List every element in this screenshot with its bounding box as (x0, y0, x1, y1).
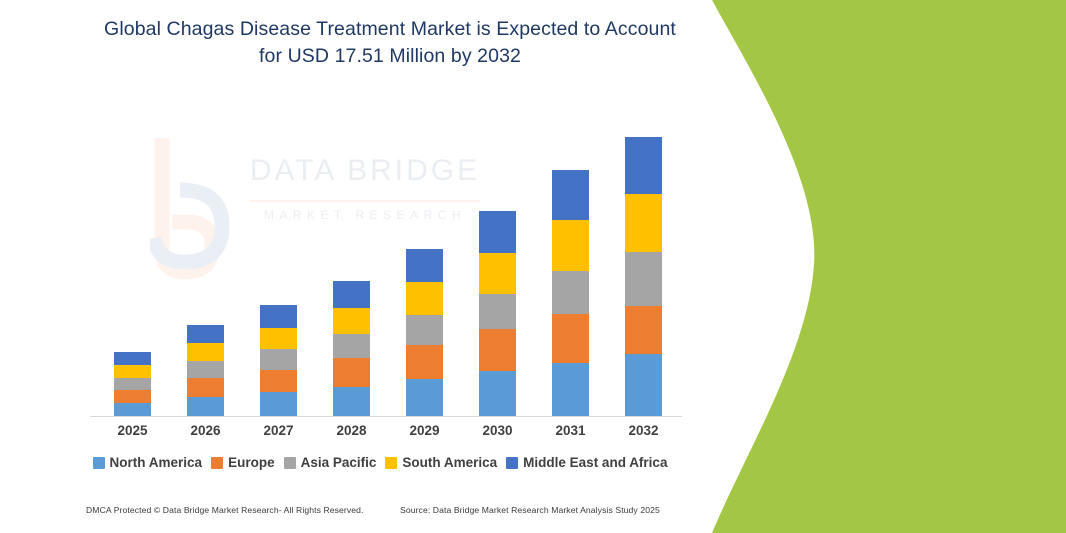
chart-panel: Global Chagas Disease Treatment Market i… (0, 0, 760, 533)
page-title: Global Chagas Disease Treatment Market i… (100, 16, 680, 70)
bar-segment (114, 378, 151, 391)
bar-segment (260, 349, 297, 369)
bar-segment (333, 281, 370, 308)
bar-segment (260, 328, 297, 350)
bar-2027 (260, 305, 297, 417)
bar-segment (187, 343, 224, 361)
bar-segment (552, 271, 589, 315)
x-axis-tick-2028: 2028 (322, 423, 382, 438)
bar-segment (260, 305, 297, 328)
bar-segment (406, 282, 443, 314)
bar-segment (114, 352, 151, 365)
bar-2029 (406, 249, 443, 417)
legend-item[interactable]: North America (93, 455, 203, 470)
bar-segment (114, 365, 151, 378)
bar-segment (479, 253, 516, 294)
bar-segment (333, 308, 370, 334)
bar-segment (406, 249, 443, 282)
x-axis-tick-2032: 2032 (614, 423, 674, 438)
bar-2025 (114, 352, 151, 417)
bar-chart-plot-area (96, 120, 680, 417)
chart-baseline (90, 416, 682, 417)
legend-swatch-icon (385, 457, 397, 469)
x-axis-tick-2031: 2031 (541, 423, 601, 438)
bar-segment (625, 306, 662, 354)
bar-segment (260, 370, 297, 393)
x-axis-tick-2027: 2027 (249, 423, 309, 438)
bar-segment (406, 345, 443, 379)
bar-segment (625, 194, 662, 252)
bar-segment (552, 220, 589, 270)
bar-segment (625, 252, 662, 306)
bar-segment (187, 361, 224, 378)
bar-2030 (479, 211, 516, 417)
legend-item[interactable]: South America (385, 455, 497, 470)
bar-segment (333, 387, 370, 417)
green-curved-background (690, 0, 1066, 533)
bar-segment (625, 137, 662, 194)
legend-label: Middle East and Africa (523, 455, 667, 470)
legend-item[interactable]: Asia Pacific (284, 455, 377, 470)
legend-item[interactable]: Europe (211, 455, 275, 470)
legend-swatch-icon (284, 457, 296, 469)
legend-label: Asia Pacific (301, 455, 377, 470)
legend-swatch-icon (211, 457, 223, 469)
chart-legend: North AmericaEuropeAsia PacificSouth Ame… (0, 455, 760, 470)
x-axis-tick-2025: 2025 (103, 423, 163, 438)
bar-2026 (187, 325, 224, 417)
legend-label: South America (402, 455, 497, 470)
legend-label: North America (110, 455, 203, 470)
legend-item[interactable]: Middle East and Africa (506, 455, 667, 470)
bar-segment (479, 294, 516, 330)
bar-segment (406, 379, 443, 417)
bar-segment (187, 378, 224, 397)
bar-segment (552, 314, 589, 362)
bar-segment (187, 397, 224, 417)
x-axis-tick-2030: 2030 (468, 423, 528, 438)
bar-segment (479, 329, 516, 371)
infographic-canvas: Global Chagas Disease Treatment Market i… (0, 0, 1066, 533)
bar-segment (625, 354, 662, 417)
bar-2028 (333, 281, 370, 417)
x-axis-labels: 20252026202720282029203020312032 (96, 423, 680, 445)
bar-segment (333, 358, 370, 386)
bar-segment (552, 170, 589, 220)
bar-segment (406, 315, 443, 345)
x-axis-tick-2026: 2026 (176, 423, 236, 438)
footer-source: Source: Data Bridge Market Research Mark… (400, 505, 660, 515)
bar-2032 (625, 137, 662, 417)
bar-segment (114, 403, 151, 417)
bar-segment (479, 211, 516, 253)
legend-label: Europe (228, 455, 275, 470)
legend-swatch-icon (93, 457, 105, 469)
footer: DMCA Protected © Data Bridge Market Rese… (0, 505, 720, 525)
x-axis-tick-2029: 2029 (395, 423, 455, 438)
bar-segment (114, 390, 151, 403)
footer-copyright: DMCA Protected © Data Bridge Market Rese… (86, 505, 364, 515)
bar-segment (333, 334, 370, 358)
bar-segment (479, 371, 516, 417)
bar-segment (260, 392, 297, 417)
legend-swatch-icon (506, 457, 518, 469)
bar-segment (552, 363, 589, 417)
bar-segment (187, 325, 224, 343)
brand-panel: Global Chagas Disease Treatment Market, … (690, 0, 1066, 533)
bar-2031 (552, 170, 589, 417)
